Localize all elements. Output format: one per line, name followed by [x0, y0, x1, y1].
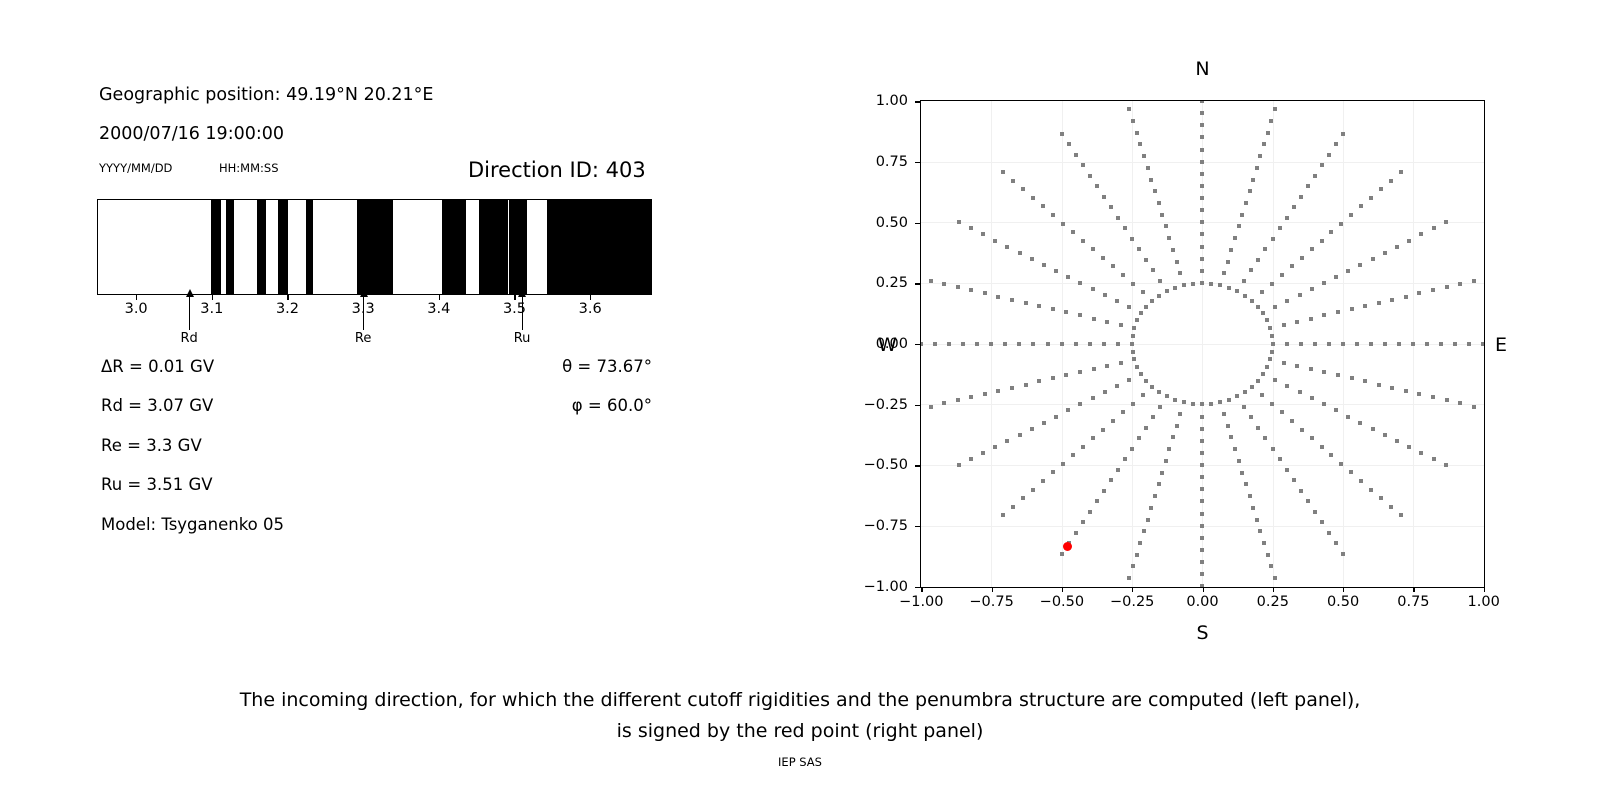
direction-dot — [969, 457, 973, 461]
direction-dot — [1151, 268, 1155, 272]
direction-dot — [1178, 271, 1182, 275]
annotation-arrow-ru — [522, 296, 523, 330]
penumbra-forbidden-band — [509, 200, 528, 294]
direction-dot — [1018, 433, 1022, 437]
direction-dot — [1200, 439, 1204, 443]
direction-dot — [1200, 135, 1204, 139]
direction-dot — [1313, 174, 1317, 178]
angle-row: φ = 60.0° — [572, 396, 652, 415]
caption-line-1: The incoming direction, for which the di… — [0, 685, 1600, 716]
penumbra-forbidden-band — [479, 200, 508, 294]
direction-dot — [1359, 204, 1363, 208]
direction-dot — [961, 342, 965, 346]
penumbra-forbidden-band — [547, 200, 651, 294]
direction-dot — [1081, 163, 1085, 167]
direction-dot — [1258, 529, 1262, 533]
direction-dot — [1250, 385, 1254, 389]
direction-dot — [1018, 251, 1022, 255]
y-tick-label: 0.75 — [826, 154, 908, 170]
direction-dot — [1339, 222, 1343, 226]
direction-dot — [1024, 383, 1028, 387]
direction-dot — [1017, 342, 1021, 346]
direction-dot — [1298, 390, 1302, 394]
x-tick-label: 1.00 — [1468, 594, 1500, 610]
direction-dot — [1334, 142, 1338, 146]
direction-dot — [1358, 421, 1362, 425]
direction-dot — [1109, 478, 1113, 482]
direction-dot — [1135, 365, 1139, 369]
direction-dot — [1144, 379, 1148, 383]
x-tick-label: 0.00 — [1186, 594, 1218, 610]
direction-dot — [1431, 395, 1435, 399]
direction-dot — [1160, 471, 1164, 475]
direction-dot — [1116, 342, 1120, 346]
direction-dot — [1144, 305, 1148, 309]
penumbra-forbidden-band — [357, 200, 393, 294]
direction-dot — [1064, 373, 1068, 377]
direction-dot — [1066, 275, 1070, 279]
direction-dot — [1249, 415, 1253, 419]
selected-direction-point — [1063, 542, 1072, 551]
y-tick-mark — [915, 587, 920, 588]
direction-dot — [1200, 572, 1204, 576]
direction-dot — [1237, 224, 1241, 228]
direction-dot — [1021, 187, 1025, 191]
direction-dot — [1309, 367, 1313, 371]
direction-dot — [1226, 424, 1230, 428]
direction-dot — [1200, 512, 1204, 516]
direction-dot — [1350, 376, 1354, 380]
direction-dot — [920, 342, 923, 346]
direction-dot — [1121, 273, 1125, 277]
annotation-arrow-re — [363, 296, 364, 330]
direction-dot — [1355, 342, 1359, 346]
direction-dot — [1417, 392, 1421, 396]
direction-dot — [1363, 304, 1367, 308]
direction-dot — [1432, 457, 1436, 461]
direction-dot — [1167, 236, 1171, 240]
direction-dot — [1030, 427, 1034, 431]
direction-dot — [1390, 386, 1394, 390]
direction-dot — [1142, 154, 1146, 158]
direction-dot — [1227, 286, 1231, 290]
parameter-row: Model: Tsyganenko 05 — [101, 515, 284, 534]
direction-dot — [1060, 552, 1064, 556]
direction-dot — [1135, 131, 1139, 135]
penumbra-forbidden-band — [257, 200, 266, 294]
direction-dot — [942, 282, 946, 286]
direction-dot — [1071, 453, 1075, 457]
direction-dot — [1137, 247, 1141, 251]
direction-scatter-plot — [920, 100, 1485, 588]
direction-dot — [1041, 479, 1045, 483]
direction-dot — [929, 405, 933, 409]
direction-dot — [1157, 390, 1161, 394]
parameter-row: Re = 3.3 GV — [101, 436, 202, 455]
direction-dot — [1271, 447, 1275, 451]
direction-dot — [1285, 342, 1289, 346]
direction-dot — [1229, 435, 1233, 439]
direction-dot — [1011, 179, 1015, 183]
direction-dot — [1383, 433, 1387, 437]
direction-dot — [1081, 239, 1085, 243]
direction-dot — [1322, 370, 1326, 374]
direction-dot — [1005, 245, 1009, 249]
penumbra-forbidden-band — [226, 200, 234, 294]
time-format-hint: HH:MM:SS — [219, 161, 279, 175]
direction-dot — [1010, 386, 1014, 390]
direction-dot — [1095, 184, 1099, 188]
direction-dot — [1237, 459, 1241, 463]
direction-dot — [1269, 564, 1273, 568]
direction-dot — [1243, 294, 1247, 298]
direction-dot — [1051, 470, 1055, 474]
direction-dot — [1295, 364, 1299, 368]
direction-dot — [1001, 170, 1005, 174]
left-panel: Geographic position: 49.19°N 20.21°E 200… — [0, 0, 760, 660]
direction-dot — [1349, 213, 1353, 217]
direction-dot — [1248, 494, 1252, 498]
direction-dot — [1218, 400, 1222, 404]
direction-dot — [1334, 541, 1338, 545]
direction-dot — [1024, 301, 1028, 305]
direction-dot — [1266, 553, 1270, 557]
direction-dot — [1051, 376, 1055, 380]
direction-dot — [1222, 412, 1226, 416]
direction-dot — [1341, 132, 1345, 136]
figure-caption: The incoming direction, for which the di… — [0, 685, 1600, 747]
direction-dot — [1458, 401, 1462, 405]
direction-dot — [1150, 385, 1154, 389]
direction-dot — [1404, 389, 1408, 393]
x-tick-label: −0.75 — [969, 594, 1013, 610]
direction-dot — [1130, 342, 1134, 346]
direction-dot — [1164, 224, 1168, 228]
direction-dot — [1054, 269, 1058, 273]
direction-dot — [1439, 342, 1443, 346]
direction-dot — [1327, 531, 1331, 535]
direction-dot — [1200, 402, 1204, 406]
direction-dot — [942, 401, 946, 405]
direction-dot — [1200, 475, 1204, 479]
direction-dot — [1299, 342, 1303, 346]
penumbra-forbidden-band — [278, 200, 288, 294]
direction-dot — [975, 342, 979, 346]
direction-dot — [1165, 289, 1169, 293]
direction-dot — [1042, 263, 1046, 267]
direction-dot — [1417, 291, 1421, 295]
direction-dot — [1271, 342, 1275, 346]
direction-dot — [1322, 313, 1326, 317]
direction-dot — [1235, 289, 1239, 293]
direction-dot — [1121, 410, 1125, 414]
datetime-value: 2000/07/16 19:00:00 — [99, 124, 284, 144]
direction-dot — [1157, 201, 1161, 205]
direction-dot — [1266, 131, 1270, 135]
direction-dot — [1123, 457, 1127, 461]
direction-dot — [1453, 342, 1457, 346]
direction-dot — [1379, 187, 1383, 191]
direction-dot — [1300, 256, 1304, 260]
direction-dot — [1270, 402, 1274, 406]
penumbra-chart — [97, 199, 652, 295]
direction-dot — [1088, 174, 1092, 178]
direction-dot — [1081, 445, 1085, 449]
direction-dot — [1334, 275, 1338, 279]
direction-dot — [969, 288, 973, 292]
direction-dot — [1285, 299, 1289, 303]
direction-dot — [1061, 222, 1065, 226]
direction-dot — [1419, 451, 1423, 455]
direction-dot — [1310, 247, 1314, 251]
direction-dot — [1336, 310, 1340, 314]
direction-dot — [929, 279, 933, 283]
y-tick-mark — [915, 405, 920, 406]
y-tick-label: −0.50 — [826, 457, 908, 473]
direction-dot — [1251, 506, 1255, 510]
direction-dot — [1119, 323, 1123, 327]
direction-dot — [1256, 305, 1260, 309]
direction-dot — [1320, 520, 1324, 524]
direction-dot — [1273, 576, 1277, 580]
direction-dot — [1255, 518, 1259, 522]
direction-dot — [1298, 293, 1302, 297]
parameter-row: Ru = 3.51 GV — [101, 475, 213, 494]
direction-dot — [1144, 426, 1148, 430]
x-tick-mark — [921, 587, 922, 592]
direction-dot — [1200, 499, 1204, 503]
direction-dot — [1336, 373, 1340, 377]
direction-dot — [1377, 301, 1381, 305]
direction-dot — [1116, 216, 1120, 220]
direction-dot — [1127, 305, 1131, 309]
direction-dot — [1263, 247, 1267, 251]
direction-dot — [1060, 342, 1064, 346]
direction-dot — [1131, 282, 1135, 286]
direction-dot — [1130, 447, 1134, 451]
direction-dot — [1369, 342, 1373, 346]
direction-dot — [1258, 154, 1262, 158]
direction-dot — [1341, 552, 1345, 556]
direction-dot — [1306, 499, 1310, 503]
direction-dot — [1046, 342, 1050, 346]
direction-dot — [1111, 419, 1115, 423]
direction-dot — [1290, 264, 1294, 268]
direction-dot — [1142, 529, 1146, 533]
direction-dot — [1051, 307, 1055, 311]
y-tick-mark — [915, 283, 920, 284]
direction-dot — [1031, 488, 1035, 492]
direction-dot — [996, 389, 1000, 393]
direction-dot — [1329, 453, 1333, 457]
penumbra-tick-label: 3.6 — [579, 301, 602, 317]
direction-dot — [1444, 220, 1448, 224]
compass-label-east: E — [1495, 334, 1507, 356]
direction-dot — [1105, 364, 1109, 368]
direction-dot — [1467, 342, 1471, 346]
direction-dot — [1256, 426, 1260, 430]
direction-dot — [1235, 394, 1239, 398]
direction-dot — [1102, 195, 1106, 199]
direction-dot — [1138, 541, 1142, 545]
direction-dot — [1135, 553, 1139, 557]
direction-dot — [1350, 307, 1354, 311]
direction-dot — [1003, 342, 1007, 346]
direction-dot — [1010, 298, 1014, 302]
direction-dot — [1300, 428, 1304, 432]
direction-dot — [1271, 237, 1275, 241]
direction-dot — [1209, 402, 1213, 406]
direction-dot — [1371, 257, 1375, 261]
direction-dot — [1255, 166, 1259, 170]
direction-dot — [1200, 524, 1204, 528]
direction-dot — [1037, 379, 1041, 383]
direction-dot — [1088, 342, 1092, 346]
direction-dot — [1149, 178, 1153, 182]
direction-dot — [1472, 279, 1476, 283]
direction-dot — [1395, 439, 1399, 443]
direction-dot — [1101, 428, 1105, 432]
direction-dot — [1359, 479, 1363, 483]
direction-dot — [1222, 271, 1226, 275]
direction-dot — [1158, 279, 1162, 283]
direction-dot — [1130, 237, 1134, 241]
footer-credit: IEP SAS — [0, 755, 1600, 769]
penumbra-tick-label: 3.4 — [427, 301, 450, 317]
direction-dot — [1131, 350, 1135, 354]
direction-dot — [1309, 317, 1313, 321]
direction-dot — [1251, 178, 1255, 182]
direction-dot — [1200, 415, 1204, 419]
x-tick-mark — [1484, 587, 1485, 592]
direction-dot — [1091, 436, 1095, 440]
direction-dot — [1182, 400, 1186, 404]
direction-dot — [1200, 160, 1204, 164]
penumbra-tick-mark — [212, 295, 213, 300]
y-tick-mark — [915, 465, 920, 466]
penumbra-tick-label: 3.1 — [200, 301, 223, 317]
direction-dot — [1115, 384, 1119, 388]
direction-dot — [1322, 281, 1326, 285]
direction-dot — [1268, 357, 1272, 361]
direction-dot — [1445, 398, 1449, 402]
direction-dot — [1242, 279, 1246, 283]
direction-dot — [993, 239, 997, 243]
x-tick-label: −0.50 — [1040, 594, 1084, 610]
direction-dot — [1131, 119, 1135, 123]
direction-dot — [1383, 342, 1387, 346]
direction-dot — [1157, 482, 1161, 486]
x-tick-label: 0.50 — [1327, 594, 1359, 610]
direction-dot — [1132, 326, 1136, 330]
direction-dot — [1262, 541, 1266, 545]
x-tick-mark — [1062, 587, 1063, 592]
direction-dot — [1273, 107, 1277, 111]
direction-dot — [1249, 268, 1253, 272]
direction-dot — [1071, 230, 1075, 234]
direction-dot — [1322, 402, 1326, 406]
date-format-hint: YYYY/MM/DD — [99, 161, 172, 175]
direction-dot — [1270, 282, 1274, 286]
direction-dot — [1132, 357, 1136, 361]
direction-dot — [1041, 204, 1045, 208]
direction-dot — [1282, 323, 1286, 327]
direction-dot — [1278, 226, 1282, 230]
y-tick-label: 1.00 — [826, 93, 908, 109]
direction-dot — [1310, 436, 1314, 440]
penumbra-tick-mark — [590, 295, 591, 300]
direction-dot — [1078, 313, 1082, 317]
penumbra-bar — [97, 199, 652, 295]
direction-dot — [1458, 282, 1462, 286]
direction-dot — [1031, 196, 1035, 200]
direction-dot — [933, 342, 937, 346]
direction-dot — [1182, 283, 1186, 287]
direction-dot — [1262, 142, 1266, 146]
parameter-row: Rd = 3.07 GV — [101, 396, 213, 415]
x-tick-mark — [1343, 587, 1344, 592]
direction-dot — [1150, 299, 1154, 303]
direction-dot — [1200, 208, 1204, 212]
direction-dot — [1091, 396, 1095, 400]
direction-dot — [1200, 148, 1204, 152]
direction-dot — [1295, 320, 1299, 324]
direction-dot — [983, 392, 987, 396]
direction-dot — [969, 395, 973, 399]
direction-dot — [1111, 264, 1115, 268]
direction-dot — [1200, 220, 1204, 224]
direction-dot — [1395, 245, 1399, 249]
annotation-label-ru: Ru — [514, 331, 531, 346]
x-tick-label: 0.25 — [1257, 594, 1289, 610]
penumbra-tick-mark — [287, 295, 288, 300]
direction-dot — [1139, 372, 1143, 376]
direction-dot — [1320, 163, 1324, 167]
direction-dot — [1061, 462, 1065, 466]
direction-dot — [1299, 489, 1303, 493]
direction-dot — [1158, 405, 1162, 409]
direction-dot — [1167, 447, 1171, 451]
direction-dot — [1157, 294, 1161, 298]
direction-dot — [1278, 457, 1282, 461]
direction-dot — [1399, 170, 1403, 174]
x-tick-label: −1.00 — [899, 594, 943, 610]
direction-dot — [1346, 269, 1350, 273]
direction-dot — [989, 342, 993, 346]
direction-dot — [1151, 415, 1155, 419]
direction-dot — [1349, 470, 1353, 474]
direction-dot — [1173, 398, 1177, 402]
direction-dot — [1105, 320, 1109, 324]
direction-dot — [1200, 100, 1204, 103]
direction-dot — [1175, 424, 1179, 428]
direction-dot — [1445, 285, 1449, 289]
direction-dot — [1399, 513, 1403, 517]
direction-dot — [1074, 531, 1078, 535]
direction-dot — [1153, 189, 1157, 193]
direction-dot — [981, 451, 985, 455]
direction-dot — [1227, 398, 1231, 402]
direction-dot — [1138, 142, 1142, 146]
direction-dot — [1200, 427, 1204, 431]
direction-dot — [1369, 196, 1373, 200]
direction-dot — [1233, 447, 1237, 451]
direction-dot — [1078, 402, 1082, 406]
direction-dot — [1404, 295, 1408, 299]
y-tick-mark — [915, 101, 920, 102]
direction-dot — [1153, 494, 1157, 498]
direction-dot — [1269, 119, 1273, 123]
